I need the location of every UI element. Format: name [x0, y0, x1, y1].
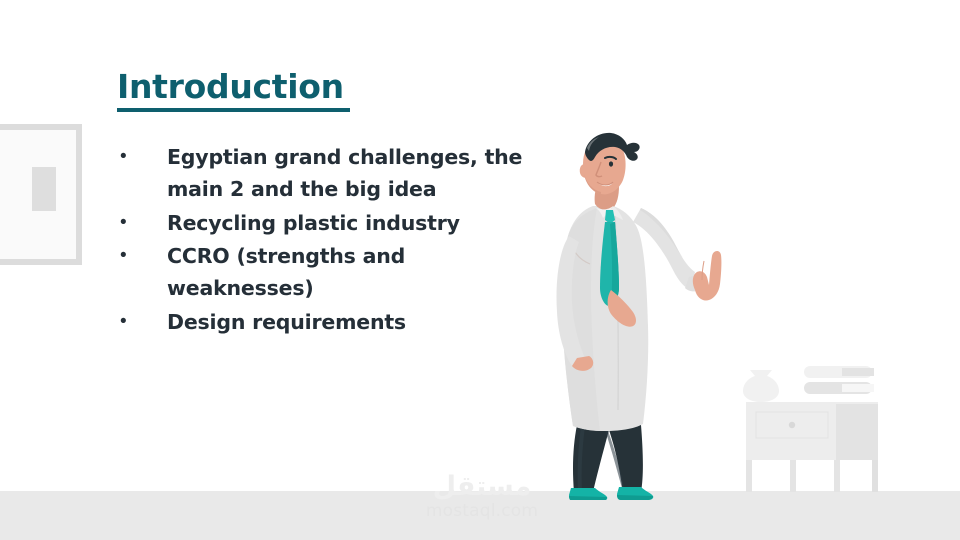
- list-item: • Recycling plastic industry: [117, 208, 557, 240]
- vase-icon: [743, 370, 779, 402]
- watermark-arabic-text: مستقل: [412, 473, 552, 501]
- book-icon: [804, 366, 874, 378]
- character-illustration: [545, 130, 745, 500]
- list-item: • CCRO (strengths and weaknesses): [117, 241, 557, 305]
- bullet-marker-icon: •: [117, 142, 167, 171]
- book-icon: [804, 382, 874, 394]
- page-title-underline: [117, 108, 350, 112]
- list-item-label: Design requirements: [167, 307, 406, 339]
- side-table-illustration: [730, 358, 910, 498]
- page-title: Introduction: [117, 70, 350, 112]
- list-item-label: CCRO (strengths and weaknesses): [167, 241, 557, 305]
- bullet-marker-icon: •: [117, 208, 167, 237]
- shoes: [569, 487, 653, 500]
- bullet-marker-icon: •: [117, 307, 167, 336]
- wall-picture-frame: [0, 124, 82, 265]
- picture-frame-artwork: [32, 167, 56, 211]
- pointing-hand: [693, 251, 722, 301]
- list-item-label: Egyptian grand challenges, the main 2 an…: [167, 142, 557, 206]
- trousers: [573, 425, 643, 492]
- watermark-latin-text: mostaql.com: [412, 501, 552, 521]
- page-title-text: Introduction: [117, 70, 350, 103]
- watermark: مستقل mostaql.com: [412, 473, 552, 522]
- bullet-list: • Egyptian grand challenges, the main 2 …: [117, 142, 557, 341]
- presentation-slide: Introduction • Egyptian grand challenges…: [0, 0, 960, 540]
- list-item-label: Recycling plastic industry: [167, 208, 460, 240]
- list-item: • Design requirements: [117, 307, 557, 339]
- list-item: • Egyptian grand challenges, the main 2 …: [117, 142, 557, 206]
- bullet-marker-icon: •: [117, 241, 167, 270]
- picture-frame-mat: [0, 130, 76, 259]
- head: [580, 133, 640, 194]
